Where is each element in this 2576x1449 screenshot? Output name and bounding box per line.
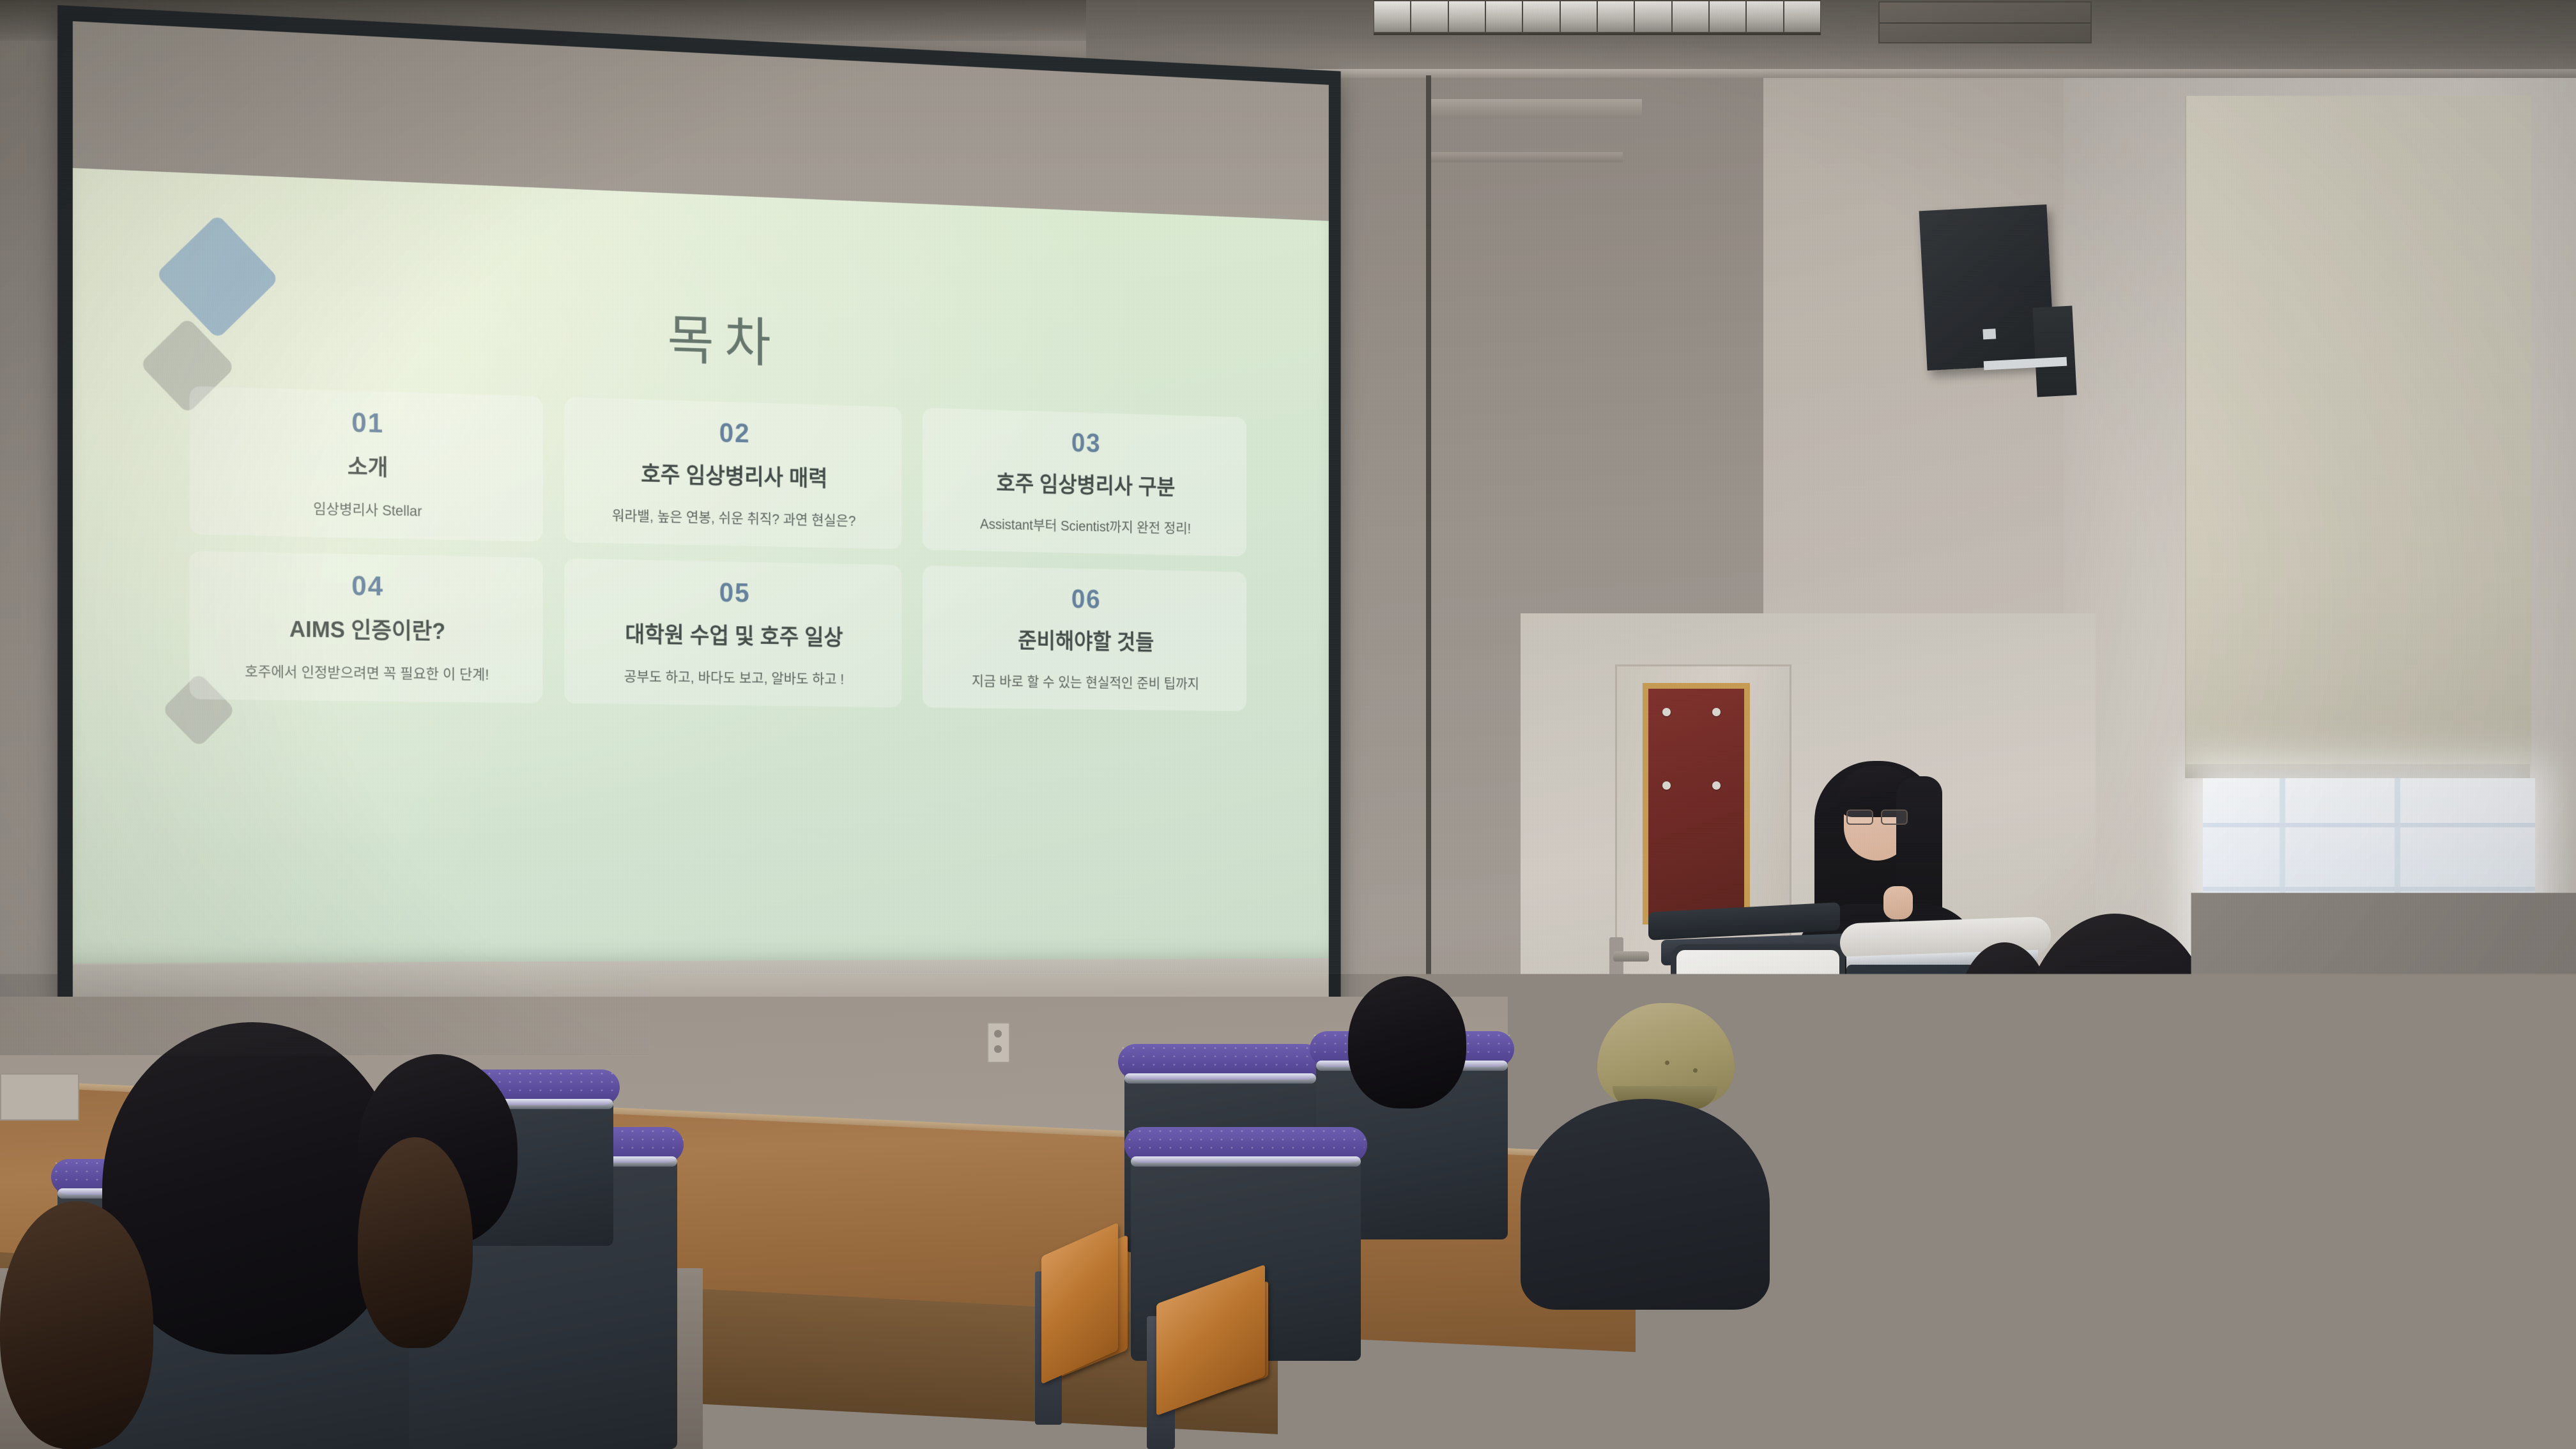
- agenda-card-06: 06 준비해야할 것들 지금 바로 할 수 있는 현실적인 준비 팁까지: [923, 565, 1246, 711]
- ceiling-vent: [1878, 1, 2092, 43]
- agenda-card-description: 지금 바로 할 수 있는 현실적인 준비 팁까지: [931, 669, 1239, 693]
- seat: [1853, 1150, 2096, 1393]
- agenda-card-number: 05: [572, 574, 894, 611]
- ceiling-light-fixture: [1374, 0, 1821, 35]
- agenda-card-number: 04: [198, 567, 534, 605]
- agenda-card-03: 03 호주 임상병리사 구분 Assistant부터 Scientist까지 완…: [923, 408, 1246, 556]
- agenda-card-title: 대학원 수업 및 호주 일상: [572, 615, 894, 652]
- audience-head-right-3: [2421, 914, 2562, 1131]
- agenda-card-01: 01 소개 임상병리사 Stellar: [189, 386, 542, 542]
- door-notice-panel: [1643, 683, 1750, 924]
- screen-lower-band: [73, 958, 1329, 999]
- speaker-logo-icon: [1982, 328, 1996, 339]
- presenter-glasses: [1846, 809, 1908, 822]
- agenda-card-grid: 01 소개 임상병리사 Stellar 02 호주 임상병리사 매력 워라밸, …: [189, 386, 1246, 711]
- audience-head-right-2: [2255, 939, 2402, 1150]
- seat-front-right: [2159, 1188, 2576, 1449]
- agenda-card-number: 06: [931, 581, 1239, 617]
- agenda-card-description: 공부도 하고, 바다도 보고, 알바도 하고 !: [572, 664, 894, 689]
- agenda-card-title: AIMS 인증이란?: [198, 609, 534, 647]
- agenda-card-description: Assistant부터 Scientist까지 완전 정리!: [931, 511, 1239, 539]
- agenda-card-04: 04 AIMS 인증이란? 호주에서 인정받으려면 꼭 필요한 이 단계!: [189, 551, 542, 703]
- audience-head-foreground-4: [358, 1137, 473, 1348]
- ceiling: [1086, 0, 2576, 75]
- agenda-card-number: 01: [198, 402, 534, 443]
- lecture-hall-photo: 목차 01 소개 임상병리사 Stellar 02 호주 임상병리사 매력 워라…: [0, 0, 2576, 1449]
- agenda-card-title: 호주 임상병리사 구분: [931, 464, 1239, 503]
- slide-title: 목차: [73, 275, 1329, 394]
- audience-head-center: [1348, 976, 1466, 1107]
- window-roller-blind[interactable]: [2185, 96, 2531, 773]
- window-blind-bottom-bar[interactable]: [2185, 764, 2530, 778]
- agenda-card-description: 임상병리사 Stellar: [198, 494, 534, 523]
- audience-head-right-1: [2019, 914, 2211, 1188]
- projector-screen-surface: 목차 01 소개 임상병리사 Stellar 02 호주 임상병리사 매력 워라…: [73, 21, 1329, 1011]
- wall-box: [0, 1073, 79, 1121]
- door-handle[interactable]: [1613, 951, 1649, 962]
- wall-duct-upper: [1431, 99, 1642, 118]
- speaker-mount-bracket: [2032, 305, 2076, 397]
- wall-duct-lower: [1431, 152, 1623, 162]
- agenda-card-05: 05 대학원 수업 및 호주 일상 공부도 하고, 바다도 보고, 알바도 하고…: [564, 558, 902, 707]
- agenda-card-description: 호주에서 인정받으려면 꼭 필요한 이 단계!: [198, 659, 534, 684]
- wall-power-outlet: [987, 1022, 1010, 1063]
- blue-cup-1: [2234, 919, 2251, 958]
- agenda-card-title: 준비해야할 것들: [931, 622, 1239, 657]
- agenda-card-title: 호주 임상병리사 매력: [572, 454, 894, 494]
- agenda-card-title: 소개: [198, 445, 534, 486]
- projector-screen: 목차 01 소개 임상병리사 Stellar 02 호주 임상병리사 매력 워라…: [57, 5, 1341, 1027]
- presenter-hand: [1883, 886, 1913, 919]
- agenda-card-02: 02 호주 임상병리사 매력 워라밸, 높은 연봉, 쉬운 취직? 과연 현실은…: [564, 397, 902, 549]
- podium-knob: [1789, 1036, 1808, 1055]
- audience-head-foreground-3: [0, 1201, 153, 1449]
- agenda-card-description: 워라밸, 높은 연봉, 쉬운 취직? 과연 현실은?: [572, 503, 894, 531]
- agenda-card-number: 03: [931, 424, 1239, 462]
- seat-front-center: [1521, 1201, 1853, 1449]
- wall-seam: [1426, 75, 1431, 1072]
- presentation-slide: 목차 01 소개 임상병리사 Stellar 02 호주 임상병리사 매력 워라…: [73, 168, 1329, 965]
- blue-cup-2: [2255, 915, 2273, 954]
- agenda-card-number: 02: [572, 413, 894, 453]
